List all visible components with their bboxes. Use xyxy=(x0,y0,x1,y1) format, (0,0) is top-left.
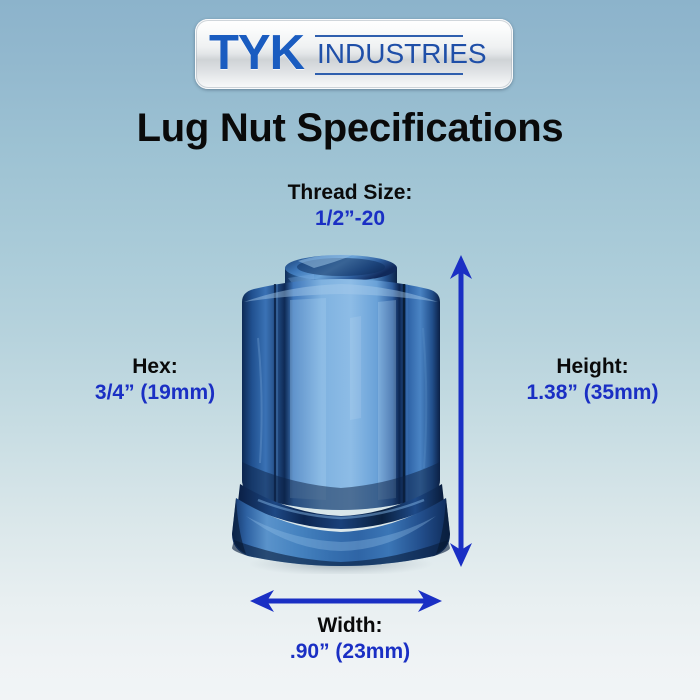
lug-nut-hex-body xyxy=(242,279,440,510)
product-spec-image: TYK INDUSTRIES Lug Nut Specifications xyxy=(0,0,700,700)
spec-hex-label: Hex: xyxy=(45,354,265,380)
spec-width-value: .90” (23mm) xyxy=(255,639,445,665)
spec-thread-size-value: 1/2”-20 xyxy=(250,206,450,232)
spec-width-label: Width: xyxy=(255,613,445,639)
spec-height-value: 1.38” (35mm) xyxy=(485,380,700,406)
spec-hex: Hex: 3/4” (19mm) xyxy=(45,354,265,407)
page-title: Lug Nut Specifications xyxy=(0,106,700,151)
height-dimension-arrow xyxy=(448,255,474,567)
spec-hex-value: 3/4” (19mm) xyxy=(45,380,265,406)
brand-subtitle-text: INDUSTRIES xyxy=(315,37,487,72)
spec-width: Width: .90” (23mm) xyxy=(255,613,445,666)
brand-logo-badge: TYK INDUSTRIES xyxy=(195,19,513,89)
spec-height-label: Height: xyxy=(485,354,700,380)
brand-subtitle-group: INDUSTRIES xyxy=(315,35,487,74)
spec-thread-size-label: Thread Size: xyxy=(250,180,450,206)
brand-rule-bottom xyxy=(315,73,463,75)
lug-nut-product-image xyxy=(228,248,454,574)
brand-name-text: TYK xyxy=(209,29,304,78)
spec-thread-size: Thread Size: 1/2”-20 xyxy=(250,180,450,233)
spec-height: Height: 1.38” (35mm) xyxy=(485,354,700,407)
width-dimension-arrow xyxy=(250,588,442,614)
